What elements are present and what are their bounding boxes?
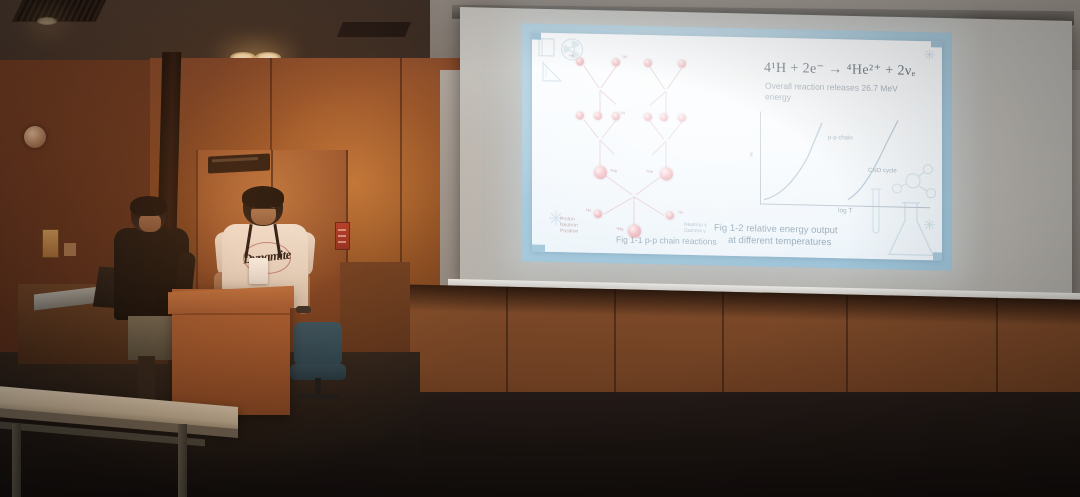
chart-series-label-cno: CNO cycle (868, 168, 897, 175)
chart-series-label-pp: p-p chain (828, 135, 853, 142)
diagram-legend: Proton Neutron Positron (560, 216, 578, 234)
name-badge (249, 258, 268, 284)
light-switch-panel[interactable] (42, 229, 59, 258)
presenter-left-legs (128, 316, 178, 360)
equation-note: Overall reaction releases 26.7 MeV energ… (765, 81, 905, 106)
diagram-legend-secondary: Neutrino γ Gamma γ (684, 222, 707, 234)
chair-backrest (294, 322, 342, 366)
wall-outlet-icon (64, 243, 76, 256)
presenter-right-hair (242, 186, 284, 208)
presenter-left-hair (130, 196, 167, 216)
door-closer-icon (208, 153, 270, 173)
ceiling-downlight-icon (37, 17, 57, 25)
air-vent-icon (12, 0, 109, 22)
figure-1-caption: Fig 1-1 p-p chain reactions (616, 234, 717, 246)
table-leg (178, 424, 187, 497)
snowflake-icon (924, 49, 935, 60)
pp-chain-diagram: ¹H ¹H ¹H ³He ³He ¹H ¹H ⁴He (554, 47, 744, 247)
chair-base (298, 394, 338, 399)
projected-slide: ¹H ¹H ¹H ³He ³He ¹H ¹H ⁴He Proton Neutro… (522, 23, 952, 270)
notebook-icon (538, 38, 555, 57)
slide-paper-panel: ¹H ¹H ¹H ³He ³He ¹H ¹H ⁴He Proton Neutro… (532, 33, 942, 261)
fusion-equation: 4¹H + 2e⁻ → ⁴He²⁺ + 2νₑ (764, 60, 916, 80)
wristwatch-icon (296, 306, 311, 313)
table-leg (12, 424, 21, 497)
figure-2-caption-line2: at different temperatures (728, 235, 831, 248)
glasses-icon (252, 208, 276, 214)
office-chair[interactable] (288, 322, 348, 394)
exit-sign-icon (335, 222, 350, 250)
lecture-room-photo: ¹H ¹H ¹H ³He ³He ¹H ¹H ⁴He Proton Neutro… (0, 0, 1080, 497)
energy-output-chart: ε log T p-p chain CNO cycle (750, 111, 932, 211)
wall-clock-icon (24, 126, 46, 148)
asterisk-icon (924, 219, 935, 230)
presenter-left-shin (138, 356, 155, 400)
air-vent-secondary-icon (337, 22, 411, 37)
